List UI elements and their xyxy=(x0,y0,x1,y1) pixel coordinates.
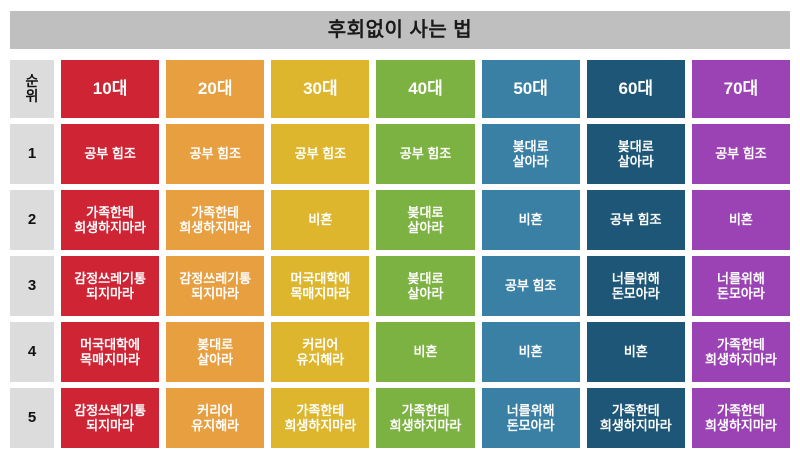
table-cell[interactable]: 가족한테 희생하지마라 xyxy=(166,190,264,250)
table-cell[interactable]: 공부 힘조 xyxy=(587,190,685,250)
table-cell[interactable]: 비혼 xyxy=(692,190,790,250)
table-cell[interactable]: 가족한테 희생하지마라 xyxy=(692,322,790,382)
table-cell[interactable]: 봊대로 살아라 xyxy=(482,124,580,184)
table-cell[interactable]: 공부 힘조 xyxy=(166,124,264,184)
rank-column-header-char: 위 xyxy=(26,89,39,104)
rank-column-header-char: 순 xyxy=(26,74,39,89)
table-cell[interactable]: 커리어 유지해라 xyxy=(271,322,369,382)
table-cell[interactable]: 감정쓰레기통 되지마라 xyxy=(166,256,264,316)
table-cell[interactable]: 비혼 xyxy=(482,322,580,382)
ranking-table: 순위10대20대30대40대50대60대70대1공부 힘조공부 힘조공부 힘조공… xyxy=(10,60,790,448)
page-title: 후회없이 사는 법 xyxy=(328,20,472,40)
column-header-30대[interactable]: 30대 xyxy=(271,60,369,118)
column-header-40대[interactable]: 40대 xyxy=(376,60,474,118)
column-header-50대[interactable]: 50대 xyxy=(482,60,580,118)
table-cell[interactable]: 봊대로 살아라 xyxy=(376,190,474,250)
table-cell[interactable]: 봊대로 살아라 xyxy=(166,322,264,382)
table-cell[interactable]: 너를위해 돈모아라 xyxy=(482,388,580,448)
table-cell[interactable]: 공부 힘조 xyxy=(376,124,474,184)
rank-cell: 1 xyxy=(10,124,54,184)
rank-cell: 3 xyxy=(10,256,54,316)
table-cell[interactable]: 가족한테 희생하지마라 xyxy=(271,388,369,448)
table-cell[interactable]: 공부 힘조 xyxy=(271,124,369,184)
table-cell[interactable]: 비혼 xyxy=(376,322,474,382)
table-cell[interactable]: 가족한테 희생하지마라 xyxy=(692,388,790,448)
infographic-page: 후회없이 사는 법 순위10대20대30대40대50대60대70대1공부 힘조공… xyxy=(0,0,800,459)
table-cell[interactable]: 감정쓰레기통 되지마라 xyxy=(61,388,159,448)
rank-cell: 2 xyxy=(10,190,54,250)
table-cell[interactable]: 비혼 xyxy=(271,190,369,250)
column-header-10대[interactable]: 10대 xyxy=(61,60,159,118)
table-cell[interactable]: 공부 힘조 xyxy=(482,256,580,316)
table-cell[interactable]: 머국대학에 목매지마라 xyxy=(61,322,159,382)
rank-cell: 5 xyxy=(10,388,54,448)
table-cell[interactable]: 감정쓰레기통 되지마라 xyxy=(61,256,159,316)
table-cell[interactable]: 가족한테 희생하지마라 xyxy=(376,388,474,448)
table-cell[interactable]: 비혼 xyxy=(587,322,685,382)
table-cell[interactable]: 머국대학에 목매지마라 xyxy=(271,256,369,316)
table-cell[interactable]: 봊대로 살아라 xyxy=(376,256,474,316)
column-header-60대[interactable]: 60대 xyxy=(587,60,685,118)
table-cell[interactable]: 봊대로 살아라 xyxy=(587,124,685,184)
table-cell[interactable]: 공부 힘조 xyxy=(692,124,790,184)
table-cell[interactable]: 너를위해 돈모아라 xyxy=(692,256,790,316)
rank-column-header: 순위 xyxy=(10,60,54,118)
table-cell[interactable]: 가족한테 희생하지마라 xyxy=(587,388,685,448)
column-header-70대[interactable]: 70대 xyxy=(692,60,790,118)
table-cell[interactable]: 너를위해 돈모아라 xyxy=(587,256,685,316)
rank-cell: 4 xyxy=(10,322,54,382)
table-cell[interactable]: 커리어 유지해라 xyxy=(166,388,264,448)
column-header-20대[interactable]: 20대 xyxy=(166,60,264,118)
table-cell[interactable]: 가족한테 희생하지마라 xyxy=(61,190,159,250)
title-banner: 후회없이 사는 법 xyxy=(10,11,790,49)
table-cell[interactable]: 비혼 xyxy=(482,190,580,250)
table-cell[interactable]: 공부 힘조 xyxy=(61,124,159,184)
